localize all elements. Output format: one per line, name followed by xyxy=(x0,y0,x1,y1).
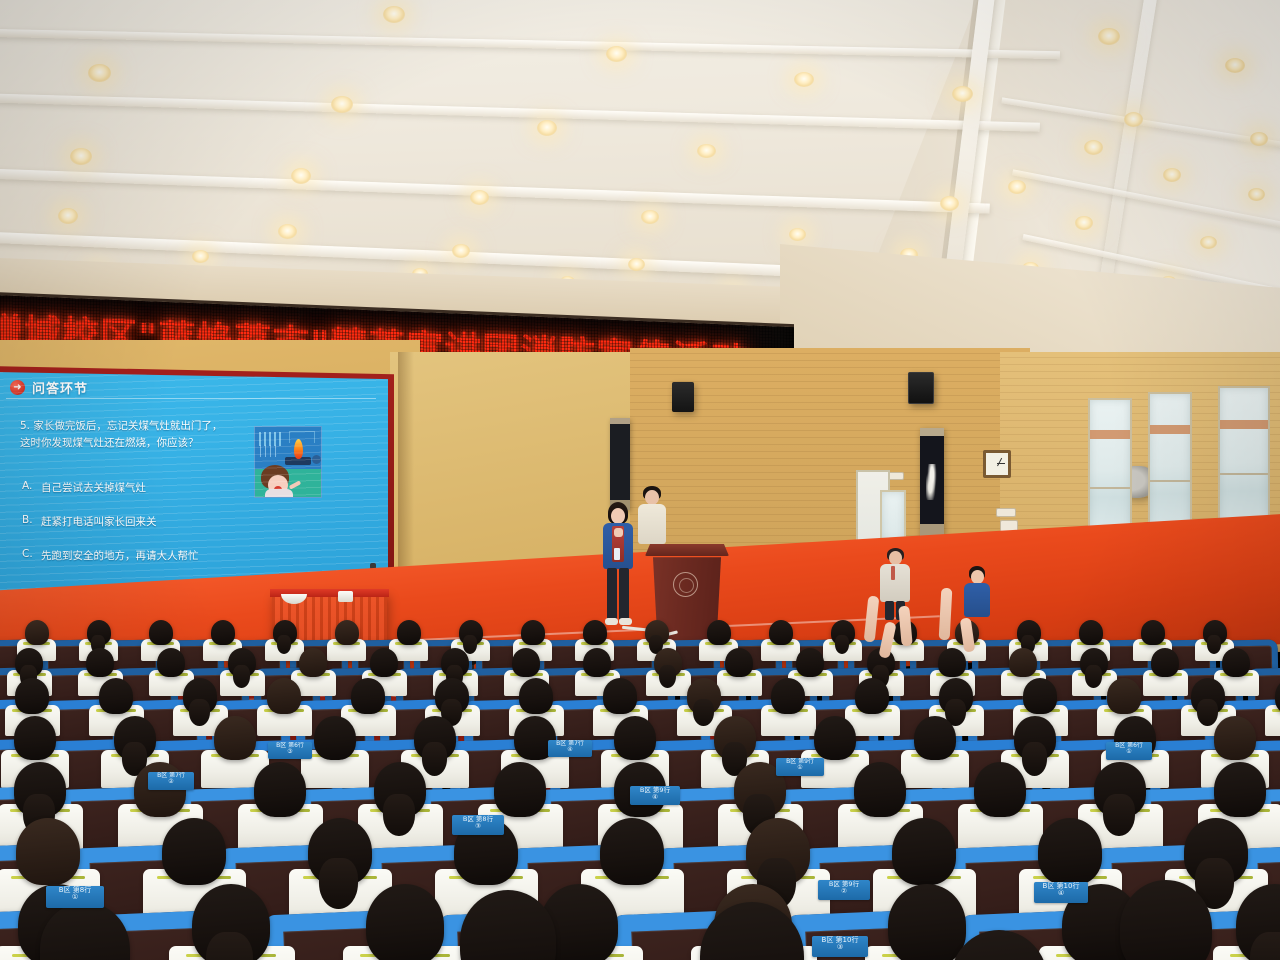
presenter-shoe-right xyxy=(619,618,632,625)
student xyxy=(460,890,556,960)
student-head xyxy=(149,620,173,645)
student xyxy=(1275,678,1280,714)
illustration-pot xyxy=(312,455,321,464)
ceiling-downlight xyxy=(1075,216,1093,230)
ceiling-downlight xyxy=(641,210,659,224)
slide-option-text: 赶紧打电话叫家长回来关 xyxy=(41,514,157,529)
student xyxy=(114,716,156,760)
seat-number: ③ xyxy=(454,823,502,830)
window-mullion xyxy=(1150,480,1190,482)
student-head xyxy=(1214,716,1256,760)
student xyxy=(40,902,130,960)
ceiling-downlight xyxy=(1098,28,1120,45)
seat-number-label: B区 第6行① xyxy=(1106,742,1152,760)
slide-option-text: 先跑到安全的地方，再请大人帮忙 xyxy=(41,548,199,563)
student-head xyxy=(314,716,356,760)
student-head xyxy=(16,818,80,885)
student xyxy=(700,902,804,960)
student xyxy=(374,762,426,817)
presenter-head xyxy=(611,508,625,524)
wall-socket xyxy=(996,508,1016,517)
student xyxy=(1184,818,1248,885)
auditorium-scene: 增城校区"蓝焰荔志"精英宣讲团消防宣传活动 ➜ 问答环节 5. 家长做完饭后， xyxy=(0,0,1280,960)
student-head xyxy=(366,884,444,960)
student-head xyxy=(1023,678,1057,714)
student-head xyxy=(211,620,235,645)
ceiling-downlight xyxy=(628,258,645,271)
student-head xyxy=(214,716,256,760)
seat-number-label: B区 第9行① xyxy=(776,758,824,776)
student xyxy=(1151,648,1179,677)
seat-number: ② xyxy=(150,779,192,785)
student-head xyxy=(1141,620,1165,645)
student xyxy=(414,716,456,760)
student-head xyxy=(914,716,956,760)
ceiling-downlight xyxy=(940,196,959,211)
student xyxy=(892,818,956,885)
student-head xyxy=(583,648,611,677)
seat-number-label: B区 第8行① xyxy=(46,886,104,908)
illustration-child-shirt xyxy=(265,489,293,498)
student xyxy=(855,678,889,714)
student xyxy=(950,930,1048,960)
wall-clock-icon xyxy=(983,450,1011,478)
presenter-hands xyxy=(614,528,623,537)
student xyxy=(603,678,637,714)
window-mullion xyxy=(1220,473,1268,475)
ceiling-downlight xyxy=(70,148,92,165)
student xyxy=(614,716,656,760)
student xyxy=(366,884,444,960)
student-head xyxy=(796,648,824,677)
slide-section-label: 问答环节 xyxy=(32,378,88,397)
student xyxy=(1214,716,1256,760)
seat-number-label: B区 第7行② xyxy=(148,772,194,790)
ceiling-downlight xyxy=(1163,168,1181,182)
student-ponytail xyxy=(383,794,414,836)
wall-socket xyxy=(888,472,904,480)
ceiling-downlight xyxy=(789,228,806,241)
student xyxy=(1107,678,1141,714)
seat-number: ① xyxy=(1108,749,1150,755)
student-head xyxy=(1107,678,1141,714)
student xyxy=(600,818,664,885)
seat-number: ① xyxy=(778,765,822,771)
staff-shirt xyxy=(638,504,666,544)
ceiling-downlight xyxy=(470,190,489,205)
slide-option-key: A. xyxy=(22,480,32,495)
student xyxy=(1222,648,1250,677)
staff-head xyxy=(645,490,659,505)
student-head xyxy=(40,902,130,960)
student xyxy=(1080,648,1108,677)
slide-option: B.赶紧打电话叫家长回来关 xyxy=(22,514,257,529)
student-head xyxy=(600,818,664,885)
ceiling-downlight xyxy=(697,144,716,158)
student-head xyxy=(397,620,421,645)
ceiling-downlight xyxy=(1200,236,1217,249)
white-cups xyxy=(338,591,353,602)
student xyxy=(1014,716,1056,760)
seat-number: ③ xyxy=(814,944,866,951)
ceiling-downlight xyxy=(452,244,470,258)
student xyxy=(351,678,385,714)
teacher-shirt xyxy=(880,564,910,602)
volunteer-vest xyxy=(964,583,990,617)
student xyxy=(939,678,973,714)
student-head xyxy=(771,678,805,714)
ceiling-downlight xyxy=(1248,188,1265,201)
student xyxy=(441,648,469,677)
window-view-roofline xyxy=(1220,420,1268,429)
slide-options-list: A.自己尝试去关掉煤气灶B.赶紧打电话叫家长回来关C.先跑到安全的地方，再请大人… xyxy=(22,480,257,582)
student-head xyxy=(855,678,889,714)
slide-section-header: ➜ 问答环节 xyxy=(10,378,88,397)
student-ponytail xyxy=(659,665,676,687)
scroll-painting xyxy=(920,428,944,538)
slide-option: A.自己尝试去关掉煤气灶 xyxy=(22,480,257,495)
student xyxy=(1023,678,1057,714)
slide-option-key: B. xyxy=(22,514,32,529)
seat-number-label: B区 第8行③ xyxy=(452,815,504,835)
student xyxy=(831,620,855,645)
teacher-leg-left xyxy=(885,601,894,620)
student xyxy=(707,620,731,645)
student xyxy=(914,716,956,760)
student-head xyxy=(335,620,359,645)
student xyxy=(435,678,469,714)
ceiling-beam xyxy=(0,93,1040,132)
student-head xyxy=(950,930,1048,960)
student xyxy=(725,648,753,677)
ceiling-downlight xyxy=(1008,180,1026,194)
window-view-roofline xyxy=(1150,425,1190,434)
presenter-leg-left xyxy=(607,568,617,620)
student xyxy=(459,620,483,645)
slide-illustration xyxy=(254,426,322,498)
student xyxy=(308,818,372,885)
student xyxy=(1141,620,1165,645)
staff-person xyxy=(635,486,669,556)
student-ponytail xyxy=(319,858,357,909)
podium-emblem xyxy=(673,572,698,597)
student xyxy=(1017,620,1041,645)
student-head xyxy=(1120,880,1212,960)
student xyxy=(183,678,217,714)
student xyxy=(1120,880,1212,960)
student xyxy=(645,620,669,645)
student-head xyxy=(1079,620,1103,645)
slide-option: C.先跑到安全的地方，再请大人帮忙 xyxy=(22,548,257,563)
student xyxy=(192,884,270,960)
illustration-flame xyxy=(294,439,303,459)
student-head xyxy=(583,620,607,645)
student-head xyxy=(254,762,306,817)
student-head xyxy=(1275,678,1280,714)
student xyxy=(273,620,297,645)
student-head xyxy=(725,648,753,677)
seat-number: ② xyxy=(820,888,868,895)
ceiling-downlight xyxy=(794,72,814,87)
student-head xyxy=(15,678,49,714)
student xyxy=(1236,884,1280,960)
student xyxy=(14,762,66,817)
ceiling-downlight xyxy=(1250,132,1268,146)
ceiling-downlight xyxy=(192,250,209,263)
seat-number-label: B区 第7行④ xyxy=(548,740,592,757)
ceiling-beam xyxy=(0,168,990,213)
ceiling-downlight xyxy=(1084,140,1103,155)
slide-option-text: 自己尝试去关掉煤气灶 xyxy=(41,480,146,495)
student-head xyxy=(603,678,637,714)
student xyxy=(494,762,546,817)
student xyxy=(854,762,906,817)
student xyxy=(14,716,56,760)
student xyxy=(1079,620,1103,645)
student xyxy=(299,648,327,677)
ceiling-downlight xyxy=(88,64,111,82)
student-head xyxy=(14,716,56,760)
student xyxy=(583,620,607,645)
student xyxy=(1203,620,1227,645)
ceiling-downlight xyxy=(952,86,973,102)
ceiling-beam xyxy=(0,29,1060,60)
presenter-shoe-left xyxy=(605,618,618,625)
student-head xyxy=(521,620,545,645)
student xyxy=(162,818,226,885)
student xyxy=(157,648,185,677)
seat-number-label: B区 第10行④ xyxy=(1034,882,1088,903)
student-head xyxy=(1038,818,1102,885)
projection-screen: ➜ 问答环节 5. 家长做完饭后，忘记关煤气灶就出门了，这时你发现煤气灶还在燃烧… xyxy=(0,372,388,594)
student-ponytail xyxy=(206,932,253,960)
arrow-right-circle-icon: ➜ xyxy=(10,380,25,395)
student-head xyxy=(769,620,793,645)
window-mullion xyxy=(1090,487,1130,489)
student-head xyxy=(1009,648,1037,677)
seat-number: ① xyxy=(48,894,102,901)
ceiling-downlight xyxy=(58,208,78,224)
student xyxy=(16,818,80,885)
student-head xyxy=(370,648,398,677)
student xyxy=(99,678,133,714)
student xyxy=(228,648,256,677)
student xyxy=(149,620,173,645)
student xyxy=(974,762,1026,817)
student xyxy=(397,620,421,645)
teacher-lanyard xyxy=(891,566,895,580)
student-head xyxy=(892,818,956,885)
student-ponytail xyxy=(189,699,209,726)
student-head xyxy=(1214,762,1266,817)
student xyxy=(1009,648,1037,677)
student-head xyxy=(614,716,656,760)
presenter-badge xyxy=(614,548,620,560)
student xyxy=(771,678,805,714)
student xyxy=(86,648,114,677)
student xyxy=(254,762,306,817)
student-head xyxy=(351,678,385,714)
student-head xyxy=(854,762,906,817)
student-ponytail xyxy=(1103,794,1134,836)
student xyxy=(746,818,810,885)
seat-number-label: B区 第6行③ xyxy=(268,742,312,759)
speaker-icon xyxy=(908,372,934,404)
seat-number-label: B区 第9行④ xyxy=(630,786,680,805)
student xyxy=(1191,678,1225,714)
seat-number-label: B区 第9行② xyxy=(818,880,870,900)
student-head xyxy=(512,648,540,677)
student-head xyxy=(1222,648,1250,677)
student-ponytail xyxy=(693,699,713,726)
student xyxy=(267,678,301,714)
illustration-range-hood xyxy=(289,431,315,443)
ceiling-downlight xyxy=(1225,58,1245,73)
student xyxy=(938,648,966,677)
slide-option-key: C. xyxy=(22,548,32,563)
ceiling-downlight xyxy=(606,46,627,62)
student-head xyxy=(86,648,114,677)
student xyxy=(687,678,721,714)
ceiling-downlight xyxy=(291,168,311,184)
student-head xyxy=(700,902,804,960)
seat-number: ③ xyxy=(270,749,310,755)
student xyxy=(87,620,111,645)
student-head xyxy=(25,620,49,645)
student-head xyxy=(938,648,966,677)
student-head xyxy=(162,818,226,885)
presenter xyxy=(598,502,638,630)
student xyxy=(25,620,49,645)
student-head xyxy=(974,762,1026,817)
student-head xyxy=(157,648,185,677)
seat-number-label: B区 第10行③ xyxy=(812,936,868,957)
window-view-roofline xyxy=(1090,430,1130,439)
student xyxy=(1094,762,1146,817)
student-head xyxy=(494,762,546,817)
student xyxy=(769,620,793,645)
ceiling-downlight xyxy=(278,224,297,239)
student xyxy=(1038,818,1102,885)
ceiling-right-wedge xyxy=(860,0,1280,300)
ceiling-downlight xyxy=(331,96,353,113)
student xyxy=(1214,762,1266,817)
student-head xyxy=(1151,648,1179,677)
illustration-utensils xyxy=(260,445,280,457)
ceiling-downlight xyxy=(383,6,405,23)
student xyxy=(512,648,540,677)
student xyxy=(654,648,682,677)
illustration-shelf xyxy=(259,432,281,446)
student-head xyxy=(267,678,301,714)
student xyxy=(521,620,545,645)
student xyxy=(214,716,256,760)
seat-number: ④ xyxy=(550,747,590,753)
student xyxy=(796,648,824,677)
ceiling-downlight xyxy=(537,120,557,136)
scroll-painting xyxy=(610,418,630,510)
student-head xyxy=(299,648,327,677)
ceiling-downlight xyxy=(1124,112,1143,127)
student-head xyxy=(519,678,553,714)
student xyxy=(211,620,235,645)
student xyxy=(15,678,49,714)
student xyxy=(519,678,553,714)
student-ponytail xyxy=(1085,665,1102,687)
presenter-leg-right xyxy=(619,568,629,620)
ceiling xyxy=(0,0,1280,300)
speaker-icon xyxy=(672,382,694,412)
student xyxy=(314,716,356,760)
slide-question-text: 5. 家长做完饭后，忘记关煤气灶就出门了，这时你发现煤气灶还在燃烧，你应该？ xyxy=(20,418,232,452)
student xyxy=(15,648,43,677)
student-head xyxy=(814,716,856,760)
student-head xyxy=(99,678,133,714)
seat-number: ④ xyxy=(632,794,678,801)
seat-number: ④ xyxy=(1036,890,1086,897)
student xyxy=(335,620,359,645)
student-head xyxy=(460,890,556,960)
student xyxy=(583,648,611,677)
student xyxy=(814,716,856,760)
volunteer-head xyxy=(971,570,984,584)
student xyxy=(714,716,756,760)
student-ponytail xyxy=(233,665,250,687)
teacher-head xyxy=(889,551,902,565)
student-head xyxy=(707,620,731,645)
student xyxy=(370,648,398,677)
slide-header-divider xyxy=(6,398,376,399)
